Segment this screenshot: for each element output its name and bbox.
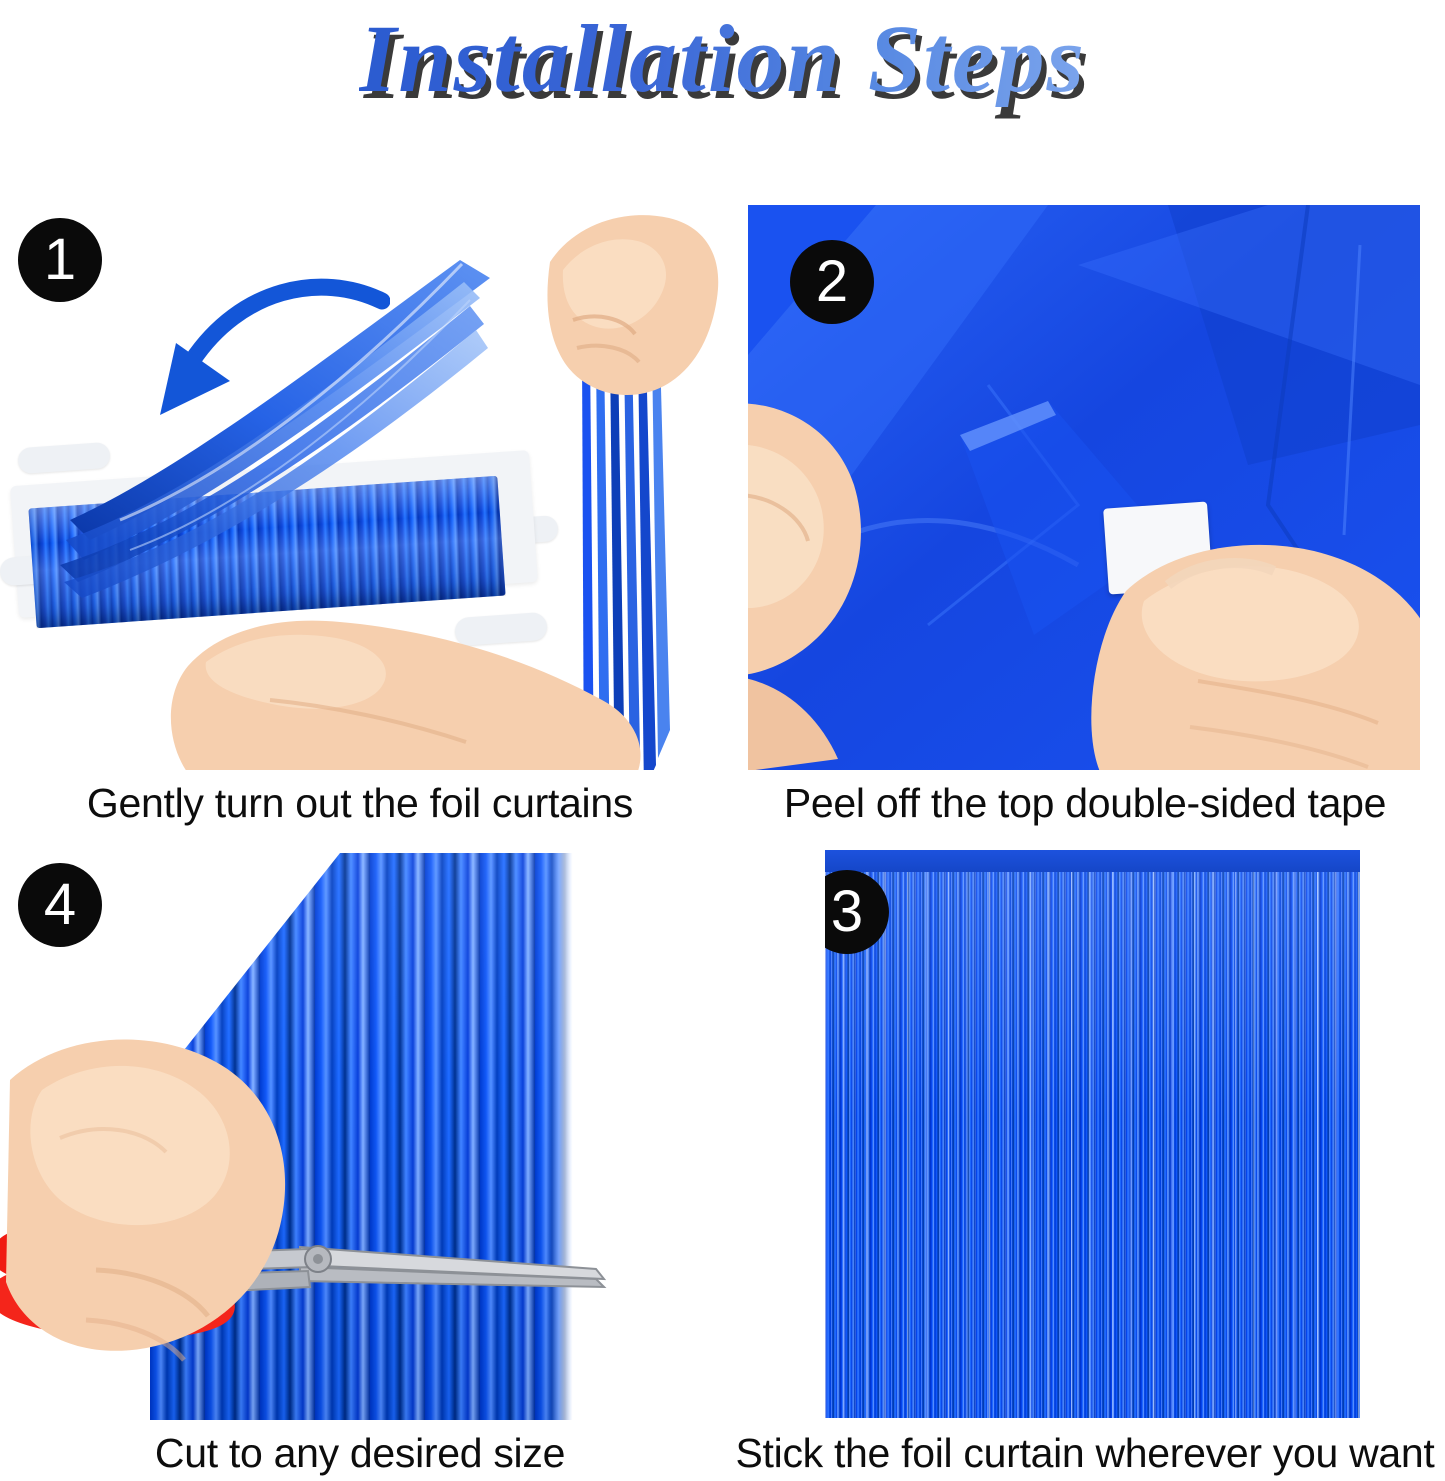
- hand-icon: [1048, 495, 1420, 770]
- hand-icon: [748, 375, 948, 770]
- foil-fringe-curtain-icon: [825, 850, 1360, 1418]
- hand-icon: [0, 1020, 330, 1420]
- step-4-caption: Cut to any desired size: [0, 1430, 720, 1477]
- curtain-fringe-texture: [825, 872, 1360, 1418]
- step-1-caption: Gently turn out the foil curtains: [0, 780, 720, 827]
- step-badge-2: 2: [790, 240, 874, 324]
- hand-icon: [455, 200, 720, 480]
- fringe-highlights: [825, 872, 1360, 1418]
- installation-steps-infographic: Installation Steps Installation Steps: [0, 0, 1445, 1481]
- page-title: Installation Steps Installation Steps: [0, 0, 1445, 118]
- step-badge-4: 4: [18, 863, 102, 947]
- step-1-scene: [0, 200, 720, 770]
- step-1-image: 1: [0, 200, 720, 770]
- page-title-text: Installation Steps: [359, 11, 1086, 107]
- step-4-image: 4: [0, 845, 720, 1420]
- step-3-image: 3: [825, 850, 1360, 1418]
- step-badge-1: 1: [18, 218, 102, 302]
- step-2-image: 2: [748, 205, 1420, 770]
- step-2-caption: Peel off the top double-sided tape: [725, 780, 1445, 827]
- hand-icon: [150, 580, 650, 770]
- step-3-caption: Stick the foil curtain wherever you want: [725, 1430, 1445, 1477]
- curved-arrow-icon: [130, 265, 390, 455]
